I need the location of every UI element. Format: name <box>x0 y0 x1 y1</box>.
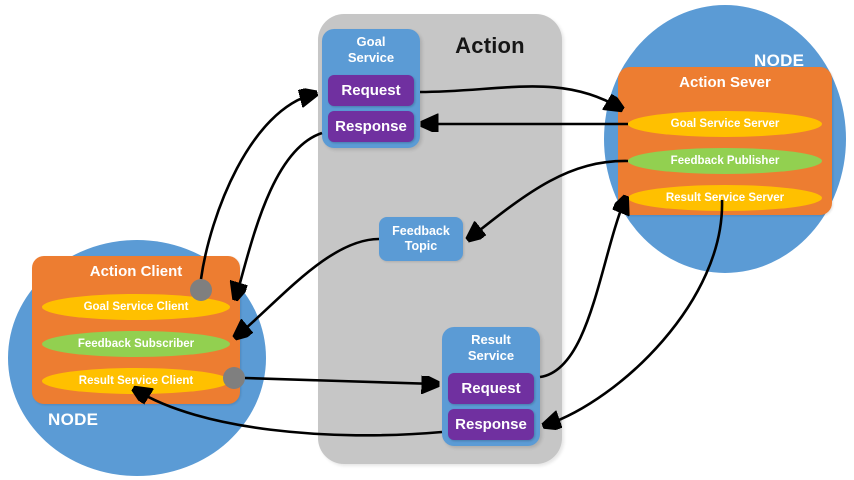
arrow-goal-response-to-client <box>236 133 322 297</box>
result-service-title-line2: Service <box>468 348 514 363</box>
result-service-server-item[interactable]: Result Service Server <box>628 185 822 211</box>
feedback-topic-line2: Topic <box>405 239 437 254</box>
server-node-label: NODE <box>754 51 804 71</box>
action-server-title: Action Sever <box>618 74 832 91</box>
feedback-topic-line1: Feedback <box>392 224 450 239</box>
goal-service-response[interactable]: Response <box>328 111 414 142</box>
action-panel-title: Action <box>430 33 550 59</box>
goal-service-title: Goal Service <box>322 34 420 66</box>
result-service-title-line1: Result <box>471 332 511 347</box>
result-service-response[interactable]: Response <box>448 409 534 440</box>
arrow-client-to-goal-request <box>201 94 314 279</box>
client-node-label: NODE <box>48 410 98 430</box>
goal-service-title-line1: Goal <box>357 34 386 49</box>
goal-service-request[interactable]: Request <box>328 75 414 106</box>
result-service-box: Result Service Request Response <box>442 327 540 446</box>
feedback-subscriber-item[interactable]: Feedback Subscriber <box>42 331 230 357</box>
feedback-publisher-item[interactable]: Feedback Publisher <box>628 148 822 174</box>
result-service-client-item[interactable]: Result Service Client <box>42 368 230 394</box>
feedback-topic-box[interactable]: Feedback Topic <box>379 217 463 261</box>
result-client-connector-dot <box>223 367 245 389</box>
goal-client-connector-dot <box>190 279 212 301</box>
result-service-request[interactable]: Request <box>448 373 534 404</box>
goal-service-server-item[interactable]: Goal Service Server <box>628 111 822 137</box>
result-service-title: Result Service <box>442 332 540 364</box>
diagram-canvas: Action Action Sever Action Client Goal S… <box>0 0 854 480</box>
goal-service-box: Goal Service Request Response <box>322 29 420 148</box>
action-client-title: Action Client <box>32 263 240 280</box>
goal-service-title-line2: Service <box>348 50 394 65</box>
